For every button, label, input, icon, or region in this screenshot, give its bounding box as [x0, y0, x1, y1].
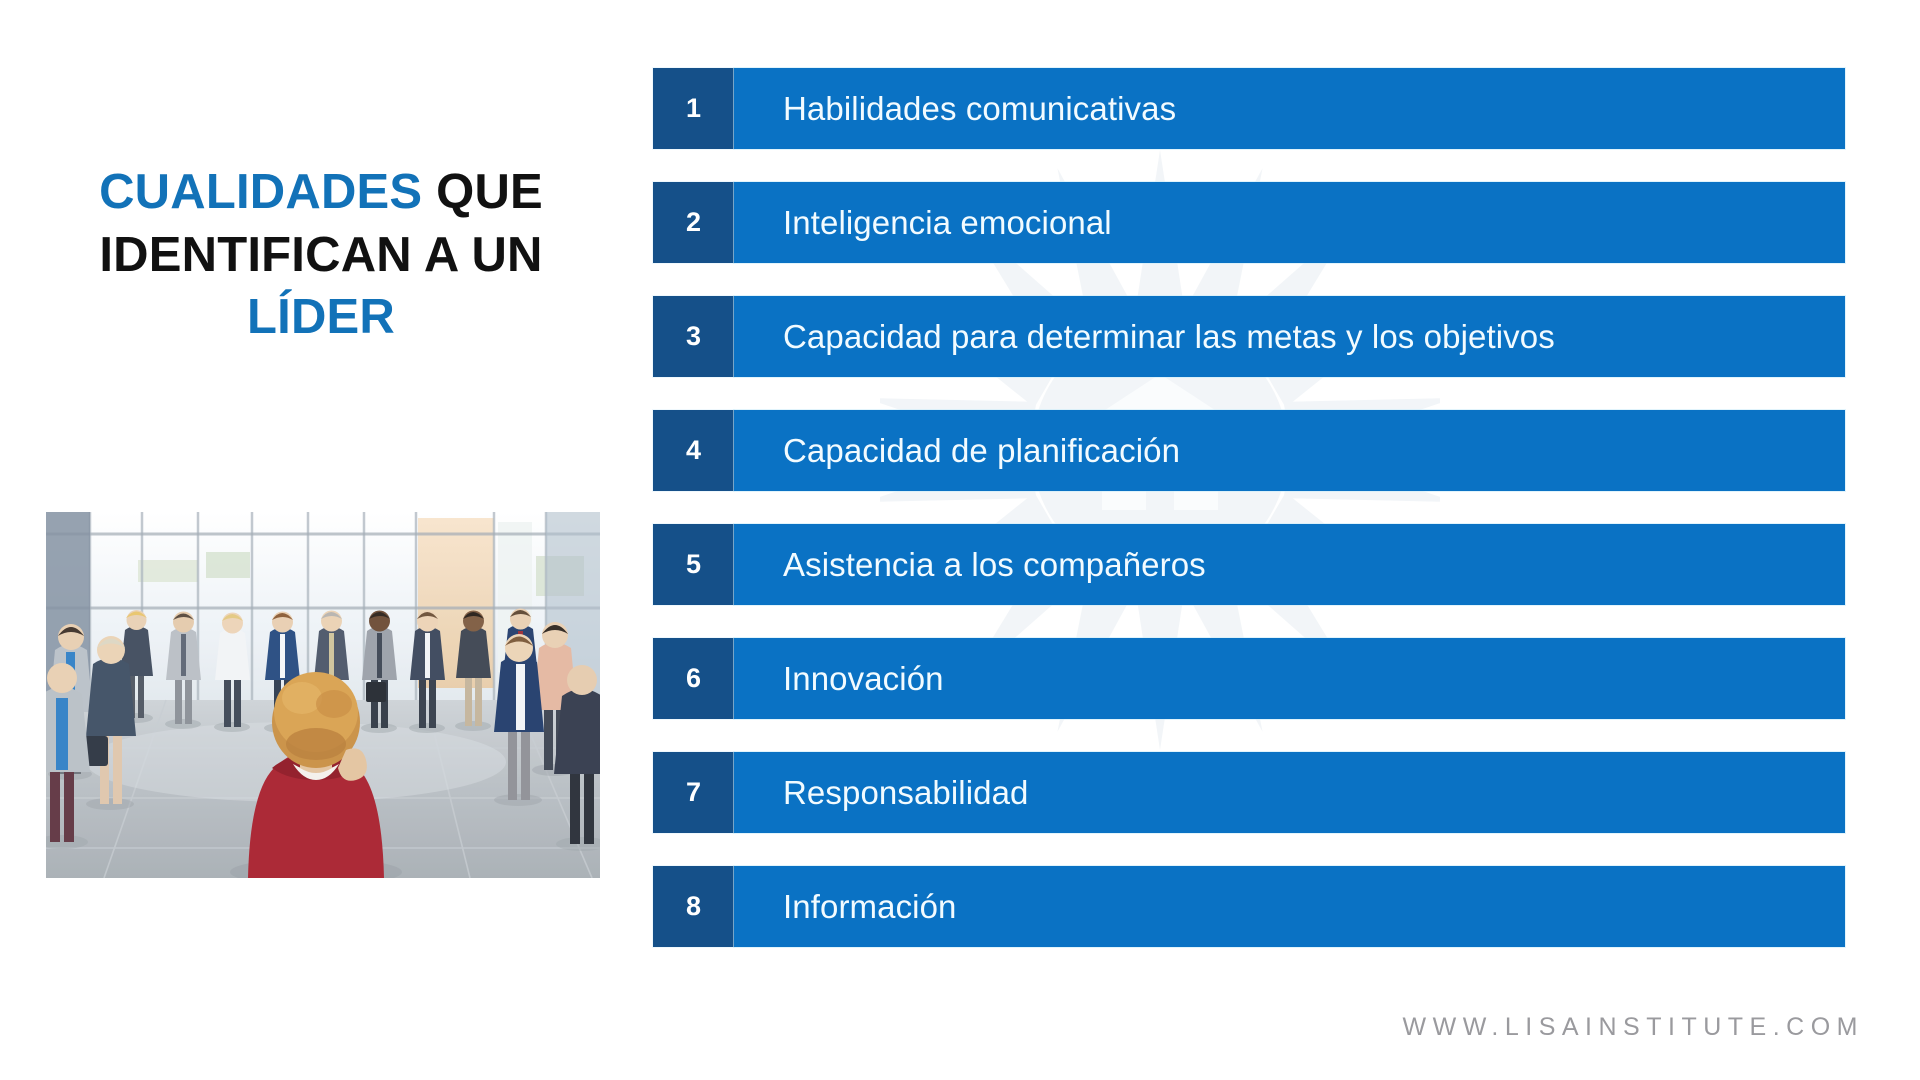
page-title-highlight-2: LÍDER: [247, 290, 395, 344]
list-item-number: 6: [653, 638, 734, 719]
list-item-label: Responsabilidad: [783, 774, 1029, 812]
list-item-bar: Capacidad de planificación: [734, 410, 1845, 491]
list-item-bar: Responsabilidad: [734, 752, 1845, 833]
list-item-label: Inteligencia emocional: [783, 204, 1112, 242]
list-item-bar: Capacidad para determinar las metas y lo…: [734, 296, 1845, 377]
list-item-bar: Innovación: [734, 638, 1845, 719]
list-item[interactable]: 3 Capacidad para determinar las metas y …: [653, 296, 1845, 377]
left-column: CUALIDADES QUE IDENTIFICAN A UN LÍDER: [0, 0, 640, 1080]
leadership-group-photo: [46, 512, 600, 878]
list-item[interactable]: 7 Responsabilidad: [653, 752, 1845, 833]
list-item-label: Habilidades comunicativas: [783, 90, 1176, 128]
list-item[interactable]: 6 Innovación: [653, 638, 1845, 719]
list-item-label: Capacidad para determinar las metas y lo…: [783, 318, 1555, 356]
list-item-bar: Asistencia a los compañeros: [734, 524, 1845, 605]
footer: WWW.LISAINSTITUTE.COM: [1403, 1013, 1865, 1042]
list-item-label: Información: [783, 888, 957, 926]
list-item[interactable]: 1 Habilidades comunicativas: [653, 68, 1845, 149]
list-item[interactable]: 4 Capacidad de planificación: [653, 410, 1845, 491]
list-item-label: Capacidad de planificación: [783, 432, 1180, 470]
qualities-list: 1 Habilidades comunicativas 2 Inteligenc…: [653, 68, 1845, 947]
list-item[interactable]: 5 Asistencia a los compañeros: [653, 524, 1845, 605]
list-item-label: Innovación: [783, 660, 944, 698]
list-item-number: 2: [653, 182, 734, 263]
page-title-highlight-1: CUALIDADES: [99, 165, 422, 219]
list-item-number: 1: [653, 68, 734, 149]
website-url[interactable]: WWW.LISAINSTITUTE.COM: [1403, 1013, 1865, 1041]
list-item-bar: Habilidades comunicativas: [734, 68, 1845, 149]
page-title-rest-1: QUE: [422, 165, 543, 219]
list-item[interactable]: 8 Información: [653, 866, 1845, 947]
list-item-bar: Información: [734, 866, 1845, 947]
list-item-number: 7: [653, 752, 734, 833]
photo-illustration: [46, 512, 600, 878]
list-item-number: 4: [653, 410, 734, 491]
list-item[interactable]: 2 Inteligencia emocional: [653, 182, 1845, 263]
list-item-label: Asistencia a los compañeros: [783, 546, 1206, 584]
page-title-line-2: IDENTIFICAN A UN: [99, 228, 542, 282]
list-item-number: 3: [653, 296, 734, 377]
list-item-number: 8: [653, 866, 734, 947]
list-item-number: 5: [653, 524, 734, 605]
page-title: CUALIDADES QUE IDENTIFICAN A UN LÍDER: [26, 161, 616, 349]
list-item-bar: Inteligencia emocional: [734, 182, 1845, 263]
